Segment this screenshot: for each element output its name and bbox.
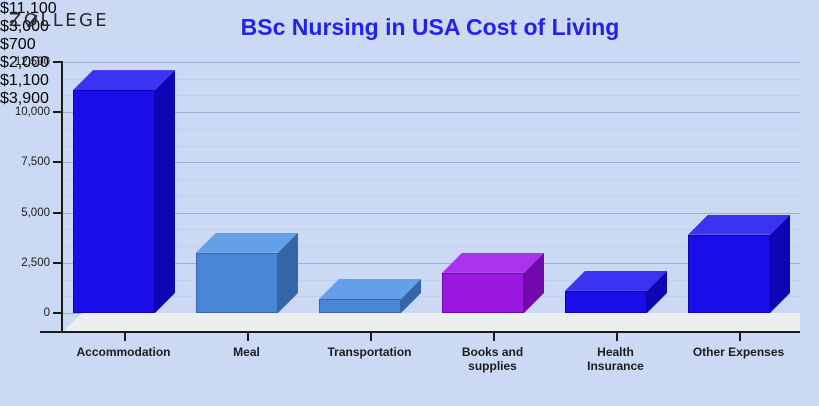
x-axis-label-line: Books and: [431, 345, 554, 359]
bar[interactable]: [442, 273, 524, 313]
bar[interactable]: [73, 90, 155, 313]
chart-canvas: ZOLLEGE BSc Nursing in USA Cost of Livin…: [0, 0, 819, 406]
logo-text-suffix: LLEGE: [40, 10, 109, 31]
y-axis-tick-label: 5,000: [2, 207, 50, 219]
x-axis-category-label: Accommodation: [62, 345, 185, 359]
bar-front-face: [688, 235, 770, 313]
y-axis-line: [61, 62, 63, 333]
bar[interactable]: [319, 299, 401, 313]
bar-front-face: [73, 90, 155, 313]
y-axis-tick: [53, 262, 63, 264]
x-axis-label-line: Meal: [185, 345, 308, 359]
gridline-major: [62, 62, 800, 63]
y-axis-tick-label: 10,000: [2, 106, 50, 118]
y-axis-tick: [53, 212, 63, 214]
x-axis-label-line: Health: [554, 345, 677, 359]
x-axis-label-line: Other Expenses: [677, 345, 800, 359]
y-axis-tick-label: 2,500: [2, 257, 50, 269]
x-axis-tick: [124, 332, 126, 341]
x-axis-category-label: Transportation: [308, 345, 431, 359]
bar-front-face: [565, 291, 647, 313]
bar-front-face: [442, 273, 524, 313]
x-axis-line: [40, 331, 800, 333]
y-axis-tick: [53, 161, 63, 163]
y-axis-tick-label: 12,500: [2, 56, 50, 68]
x-axis-category-label: Books andsupplies: [431, 345, 554, 373]
y-axis-tick-label: 0: [2, 307, 50, 319]
x-axis-category-label: Other Expenses: [677, 345, 800, 359]
floor-slab: [62, 313, 800, 333]
bar[interactable]: [565, 291, 647, 313]
bar[interactable]: [688, 235, 770, 313]
x-axis-category-label: Meal: [185, 345, 308, 359]
bar-front-face: [196, 253, 278, 313]
x-axis-label-line: Insurance: [554, 359, 677, 373]
bar-side-face: [155, 70, 175, 313]
y-axis-tick: [53, 61, 63, 63]
y-axis-tick: [53, 111, 63, 113]
y-axis-tick: [53, 312, 63, 314]
x-axis-tick: [370, 332, 372, 341]
x-axis-label-line: supplies: [431, 359, 554, 373]
bar-front-face: [319, 299, 401, 313]
x-axis-tick: [247, 332, 249, 341]
x-axis-tick: [739, 332, 741, 341]
x-axis-tick: [493, 332, 495, 341]
x-axis-label-line: Transportation: [308, 345, 431, 359]
y-axis-tick-label: 7,500: [2, 156, 50, 168]
chart-title: BSc Nursing in USA Cost of Living: [120, 14, 740, 41]
x-axis-tick: [616, 332, 618, 341]
y-axis-labels: 02,5005,0007,50010,00012,500: [0, 0, 50, 406]
x-axis-label-line: Accommodation: [62, 345, 185, 359]
chart-floor-plane: [62, 313, 800, 333]
x-axis-category-label: HealthInsurance: [554, 345, 677, 373]
bar[interactable]: [196, 253, 278, 313]
